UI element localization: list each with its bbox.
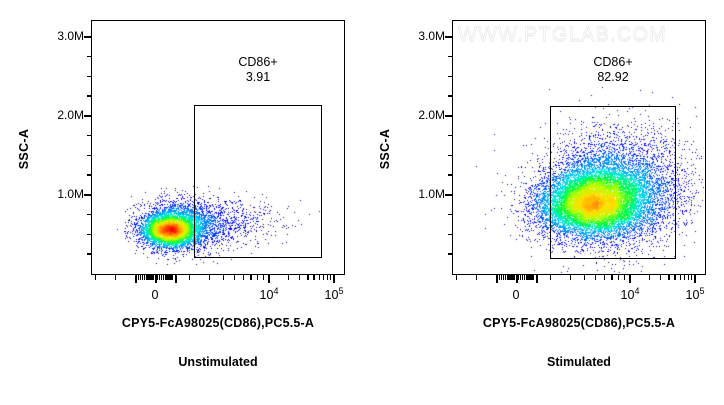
y-axis-minor-tick: [87, 135, 92, 136]
y-axis-major-tick: [445, 36, 453, 38]
y-tick-label-2M: 2.0M: [38, 108, 84, 122]
y-axis-minor-tick: [448, 234, 453, 235]
gate-name: CD86+: [553, 55, 673, 70]
panel-unstimulated: CD86+ 3.91 3.0M 2.0M 1.0M SSC-A 0 104 10…: [0, 0, 362, 405]
x-tick-label-1e5: 105: [679, 288, 711, 302]
y-axis-minor-tick: [448, 214, 453, 215]
y-tick-label-3M: 3.0M: [399, 29, 445, 43]
x-tick-exponent: 4: [634, 286, 639, 296]
x-axis-minor-tick: [570, 275, 571, 280]
y-axis-minor-tick: [87, 76, 92, 77]
y-axis-major-tick: [445, 115, 453, 117]
y-axis-major-tick: [84, 36, 92, 38]
y-tick-label-1M: 1.0M: [399, 187, 445, 201]
y-tick-label-1M: 1.0M: [38, 187, 84, 201]
x-axis-minor-tick: [288, 275, 289, 280]
x-axis-major-tick: [333, 275, 335, 283]
panel-stimulated: WWW.PTGLAB.COM CD86+ 82.92 3.0M 2.0M 1.0…: [362, 0, 724, 405]
x-axis-minor-tick: [330, 275, 331, 280]
x-axis-minor-tick: [263, 275, 264, 280]
x-axis-major-tick: [694, 275, 696, 283]
gate-percentage: 3.91: [198, 70, 318, 85]
y-axis-minor-tick: [448, 76, 453, 77]
gate-name: CD86+: [198, 55, 318, 70]
x-axis-minor-tick: [313, 275, 314, 280]
x-axis-minor-tick: [153, 275, 154, 280]
x-axis-minor-tick: [476, 275, 477, 280]
x-axis-minor-tick: [257, 275, 258, 280]
x-axis-minor-tick: [496, 275, 497, 280]
x-axis-minor-tick: [550, 275, 551, 280]
x-tick-base: 10: [686, 288, 700, 302]
x-tick-label-1e4: 104: [253, 288, 285, 302]
gate-label: CD86+ 3.91: [198, 55, 318, 85]
panel-caption: Unstimulated: [98, 355, 338, 369]
y-axis-major-tick: [84, 194, 92, 196]
x-axis-minor-tick: [135, 275, 136, 280]
y-tick-label-2M: 2.0M: [399, 108, 445, 122]
x-axis-minor-tick: [649, 275, 650, 280]
x-tick-exponent: 5: [699, 286, 704, 296]
y-axis-minor-tick: [448, 155, 453, 156]
y-axis-title: SSC-A: [378, 119, 392, 179]
x-axis-minor-tick: [514, 275, 515, 280]
x-axis-minor-tick: [172, 275, 173, 280]
x-axis-minor-tick: [234, 275, 235, 280]
panel-caption: Stimulated: [459, 355, 699, 369]
x-axis-minor-tick: [595, 275, 596, 280]
x-axis-major-tick: [175, 275, 177, 283]
x-axis-major-tick: [629, 275, 631, 283]
x-axis-minor-tick: [691, 275, 692, 280]
x-axis-major-tick: [536, 275, 538, 283]
x-axis-minor-tick: [323, 275, 324, 280]
x-axis-minor-tick: [319, 275, 320, 280]
x-axis-minor-tick: [680, 275, 681, 280]
x-tick-label-zero: 0: [143, 288, 167, 302]
x-axis-minor-tick: [611, 275, 612, 280]
y-axis-minor-tick: [87, 234, 92, 235]
x-tick-label-1e5: 105: [318, 288, 350, 302]
x-axis-minor-tick: [95, 275, 96, 280]
x-axis-minor-tick: [684, 275, 685, 280]
y-axis-minor-tick: [448, 135, 453, 136]
x-axis-title: CPY5-FcA98025(CD86),PC5.5-A: [419, 316, 724, 330]
x-tick-base: 10: [325, 288, 339, 302]
x-tick-base: 10: [621, 288, 635, 302]
y-axis-title: SSC-A: [17, 119, 31, 179]
x-tick-label-zero: 0: [504, 288, 528, 302]
x-axis-minor-tick: [456, 275, 457, 280]
y-axis-major-tick: [445, 194, 453, 196]
y-axis-minor-tick: [448, 56, 453, 57]
x-axis-minor-tick: [299, 275, 300, 280]
x-axis-minor-tick: [604, 275, 605, 280]
x-axis-minor-tick: [660, 275, 661, 280]
x-axis-minor-tick: [624, 275, 625, 280]
x-tick-base: 10: [260, 288, 274, 302]
y-axis-minor-tick: [448, 95, 453, 96]
gate-percentage: 82.92: [553, 70, 673, 85]
y-axis-minor-tick: [87, 155, 92, 156]
x-axis-minor-tick: [688, 275, 689, 280]
x-axis-minor-tick: [618, 275, 619, 280]
y-axis-minor-tick: [448, 253, 453, 254]
y-axis-minor-tick: [87, 174, 92, 175]
x-axis-minor-tick: [584, 275, 585, 280]
y-axis-minor-tick: [448, 174, 453, 175]
x-axis-minor-tick: [668, 275, 669, 280]
x-axis-title: CPY5-FcA98025(CD86),PC5.5-A: [58, 316, 378, 330]
gate-rectangle[interactable]: [194, 105, 322, 258]
y-axis-major-tick: [84, 115, 92, 117]
x-tick-exponent: 5: [338, 286, 343, 296]
x-axis-minor-tick: [115, 275, 116, 280]
y-axis-minor-tick: [87, 56, 92, 57]
x-tick-label-1e4: 104: [614, 288, 646, 302]
x-axis-minor-tick: [250, 275, 251, 280]
x-axis-minor-tick: [307, 275, 308, 280]
x-axis-minor-tick: [189, 275, 190, 280]
x-axis-minor-tick: [243, 275, 244, 280]
x-axis-minor-tick: [327, 275, 328, 280]
gate-rectangle[interactable]: [550, 106, 676, 259]
y-axis-minor-tick: [87, 214, 92, 215]
x-axis-minor-tick: [533, 275, 534, 280]
y-tick-label-3M: 3.0M: [38, 29, 84, 43]
x-axis-major-tick: [268, 275, 270, 283]
gate-label: CD86+ 82.92: [553, 55, 673, 85]
x-axis-minor-tick: [674, 275, 675, 280]
x-tick-exponent: 4: [273, 286, 278, 296]
y-axis-minor-tick: [87, 95, 92, 96]
y-axis-minor-tick: [87, 253, 92, 254]
x-axis-minor-tick: [209, 275, 210, 280]
x-axis-minor-tick: [223, 275, 224, 280]
